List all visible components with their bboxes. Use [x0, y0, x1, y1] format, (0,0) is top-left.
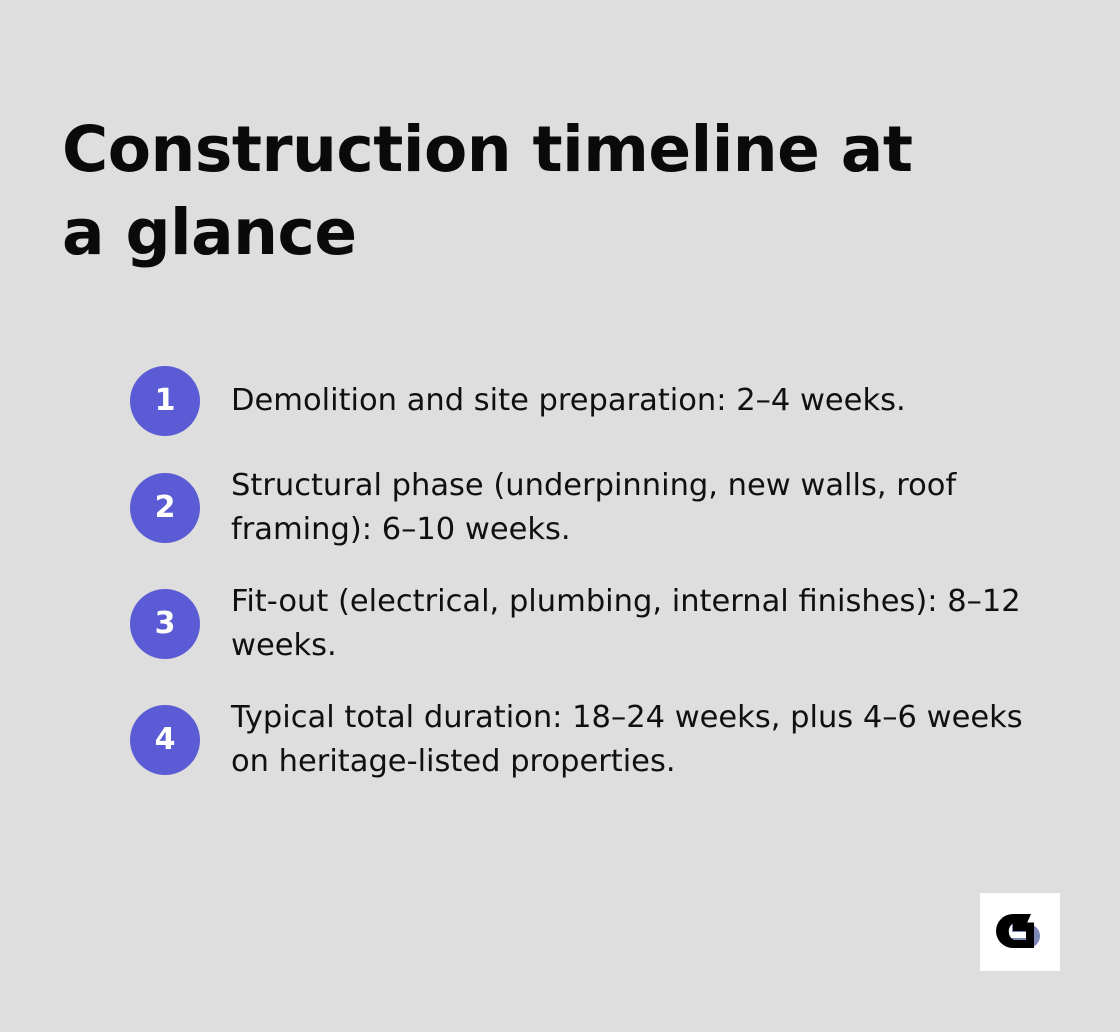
step-number-badge: 4	[130, 705, 200, 775]
step-description: Demolition and site preparation: 2–4 wee…	[231, 379, 906, 423]
step-description: Fit-out (electrical, plumbing, internal …	[231, 580, 1060, 668]
step-number-badge: 2	[130, 473, 200, 543]
step-description: Typical total duration: 18–24 weeks, plu…	[231, 696, 1060, 784]
step-description: Structural phase (underpinning, new wall…	[231, 464, 1060, 552]
list-item: 1 Demolition and site preparation: 2–4 w…	[130, 366, 1060, 436]
list-item: 2 Structural phase (underpinning, new wa…	[130, 464, 1060, 552]
list-item: 4 Typical total duration: 18–24 weeks, p…	[130, 696, 1060, 784]
brand-logo-tile	[980, 893, 1060, 971]
step-number-badge: 1	[130, 366, 200, 436]
brand-monogram-icon	[996, 910, 1044, 954]
list-item: 3 Fit-out (electrical, plumbing, interna…	[130, 580, 1060, 668]
step-number-badge: 3	[130, 589, 200, 659]
infographic-card: Construction timeline at a glance 1 Demo…	[0, 0, 1120, 1032]
page-title: Construction timeline at a glance	[62, 108, 942, 274]
timeline-step-list: 1 Demolition and site preparation: 2–4 w…	[130, 366, 1060, 783]
